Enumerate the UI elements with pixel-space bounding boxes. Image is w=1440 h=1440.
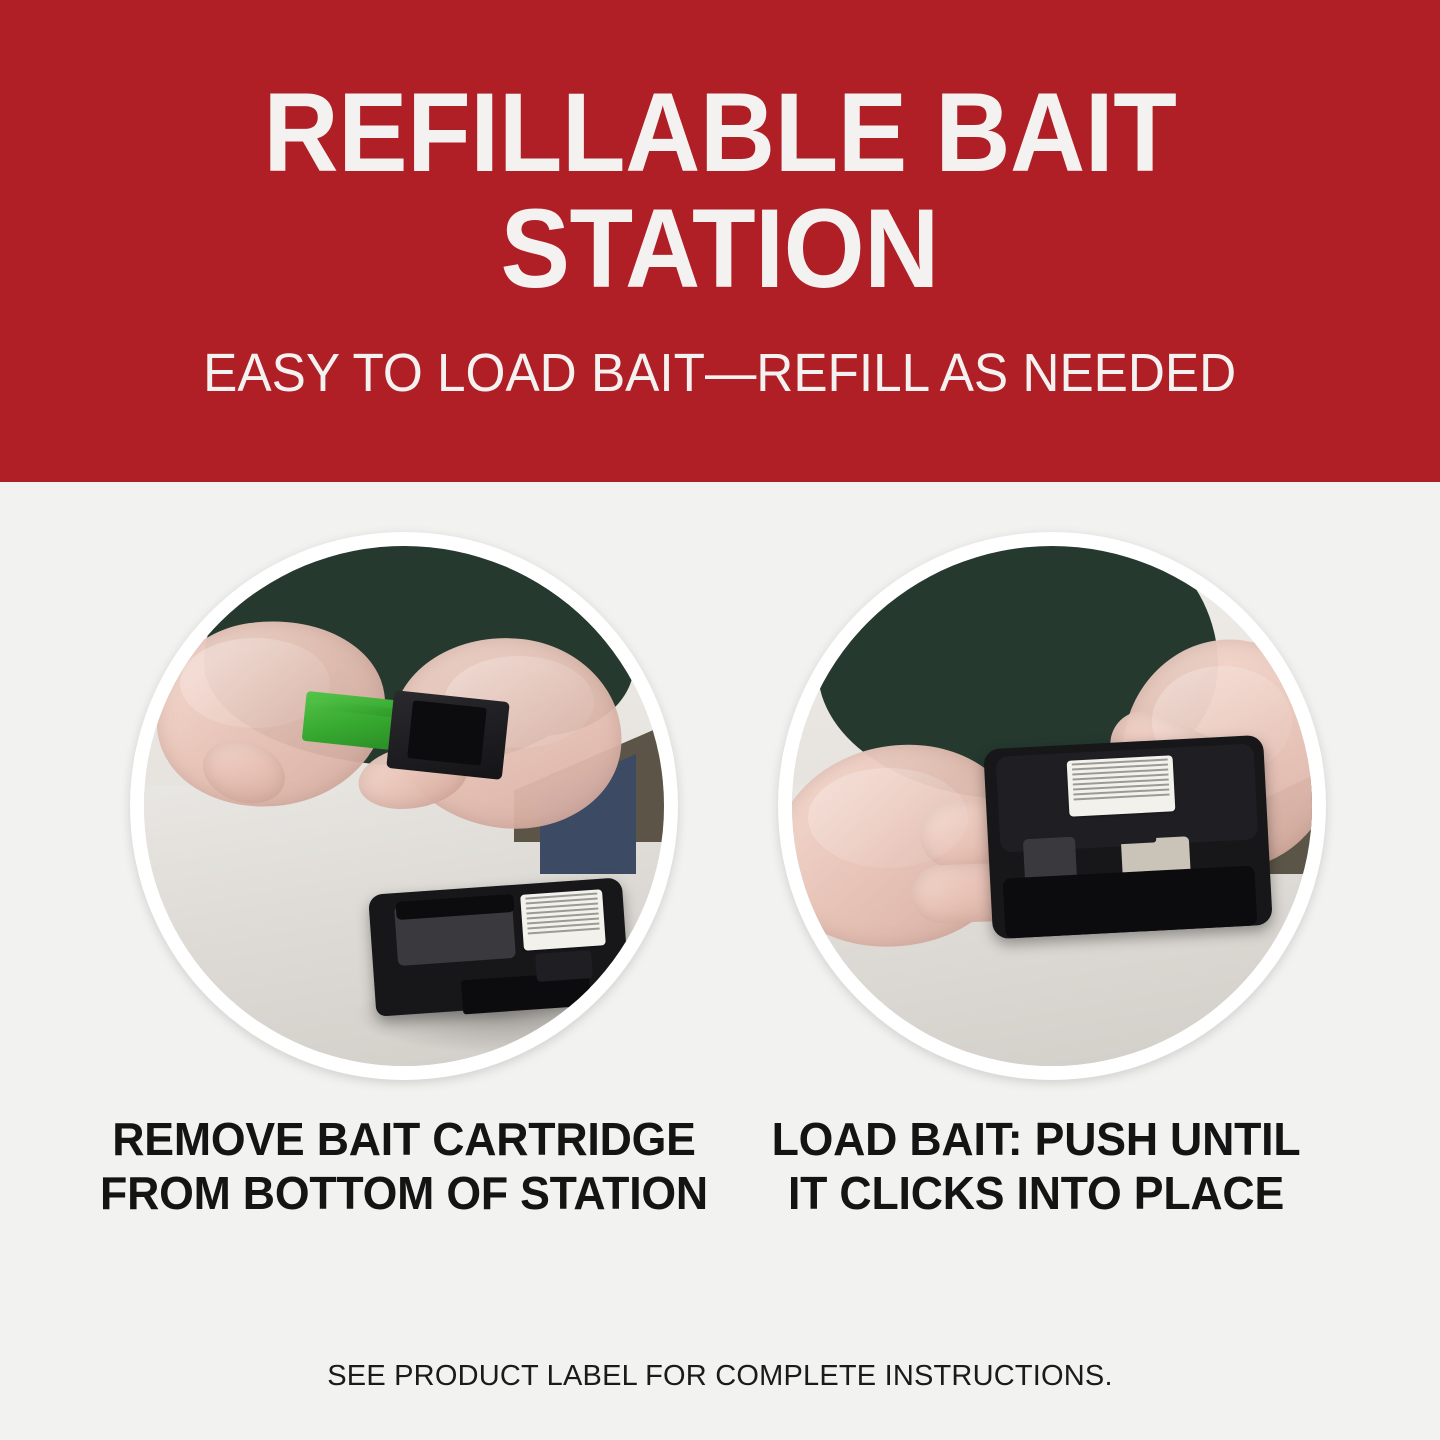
photo-load-bait (778, 532, 1326, 1080)
bait-station-entry-port (535, 950, 593, 982)
header-banner: REFILLABLE BAIT STATION EASY TO LOAD BAI… (0, 0, 1440, 482)
bait-station-cartridge-edge (1092, 826, 1157, 845)
step-2-caption-line-2: IT CLICKS INTO PLACE (726, 1166, 1347, 1220)
page-title-line-1: REFILLABLE BAIT (263, 78, 1176, 188)
step-1-caption-line-2: FROM BOTTOM OF STATION (94, 1166, 715, 1220)
photo-load-bait-image (792, 546, 1312, 1066)
step-1 (130, 532, 678, 1080)
photo-remove-bait-cartridge-image (144, 546, 664, 1066)
bait-cartridge-held-face (407, 700, 487, 765)
step-1-caption: REMOVE BAIT CARTRIDGE FROM BOTTOM OF STA… (84, 1112, 724, 1221)
footer-disclaimer: SEE PRODUCT LABEL FOR COMPLETE INSTRUCTI… (0, 1360, 1440, 1393)
station-instruction-label (520, 889, 606, 951)
glove-sheen-left-2 (808, 768, 968, 868)
step-2-caption: LOAD BAIT: PUSH UNTIL IT CLICKS INTO PLA… (716, 1112, 1356, 1221)
page-title-line-2: STATION (501, 194, 939, 304)
step-2 (778, 532, 1326, 1080)
station-instruction-label-2 (1067, 755, 1176, 816)
step-1-caption-line-1: REMOVE BAIT CARTRIDGE (94, 1112, 715, 1166)
page-subtitle: EASY TO LOAD BAIT—REFILL AS NEEDED (203, 346, 1236, 400)
photo-remove-bait-cartridge (130, 532, 678, 1080)
step-2-caption-line-1: LOAD BAIT: PUSH UNTIL (726, 1112, 1347, 1166)
content-area: REMOVE BAIT CARTRIDGE FROM BOTTOM OF STA… (0, 482, 1440, 1440)
